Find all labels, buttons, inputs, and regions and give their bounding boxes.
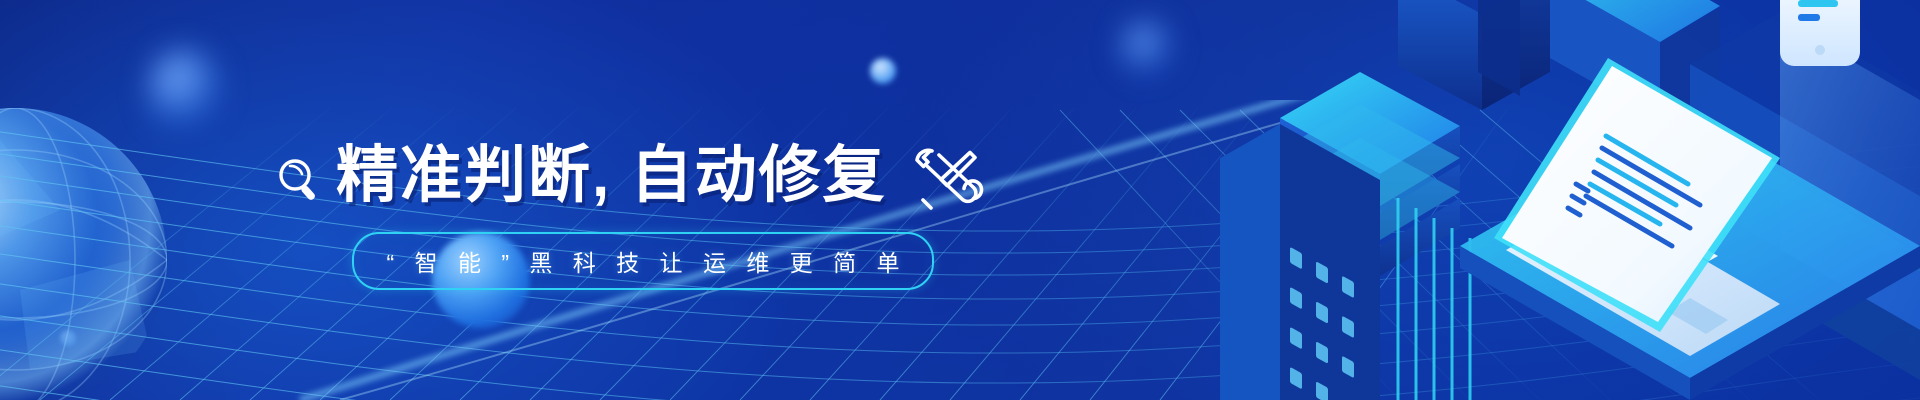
isometric-data-center-illustration	[1220, 0, 1920, 400]
office-tower	[1398, 0, 1550, 110]
subtitle-text: “ 智 能 ” 黑 科 技 让 运 维 更 简 单	[380, 244, 907, 278]
subtitle-pill: “ 智 能 ” 黑 科 技 让 运 维 更 简 单	[352, 232, 934, 290]
laptop-trackpad	[1668, 298, 1728, 334]
document-card	[1780, 0, 1860, 66]
magnifier-icon	[276, 156, 322, 202]
laptop-platform	[1460, 114, 1920, 400]
bokeh-orb	[1120, 20, 1174, 78]
bokeh-orb	[148, 48, 222, 134]
bokeh-orb	[60, 330, 76, 346]
wrench-screwdriver-icon	[910, 142, 984, 212]
laptop-keyboard	[1551, 208, 1718, 301]
grid-floor	[1220, 205, 1340, 400]
headline-text: 精准判断, 自动修复	[336, 145, 886, 207]
promo-banner: 精准判断, 自动修复 “ 智 能 ” 黑 科 技 让 运 维 更 简 单	[0, 0, 1920, 400]
tower-front	[1220, 124, 1470, 400]
back-slab	[1550, 0, 1720, 120]
server-platform-right	[1690, 12, 1920, 380]
headline-row: 精准判断, 自动修复	[276, 139, 984, 213]
bokeh-orb	[870, 58, 896, 84]
glowing-globe	[0, 100, 230, 400]
laptop-code-lines	[1568, 136, 1700, 246]
laptop-with-code	[1494, 58, 1780, 356]
server-stack-left	[1280, 72, 1460, 276]
